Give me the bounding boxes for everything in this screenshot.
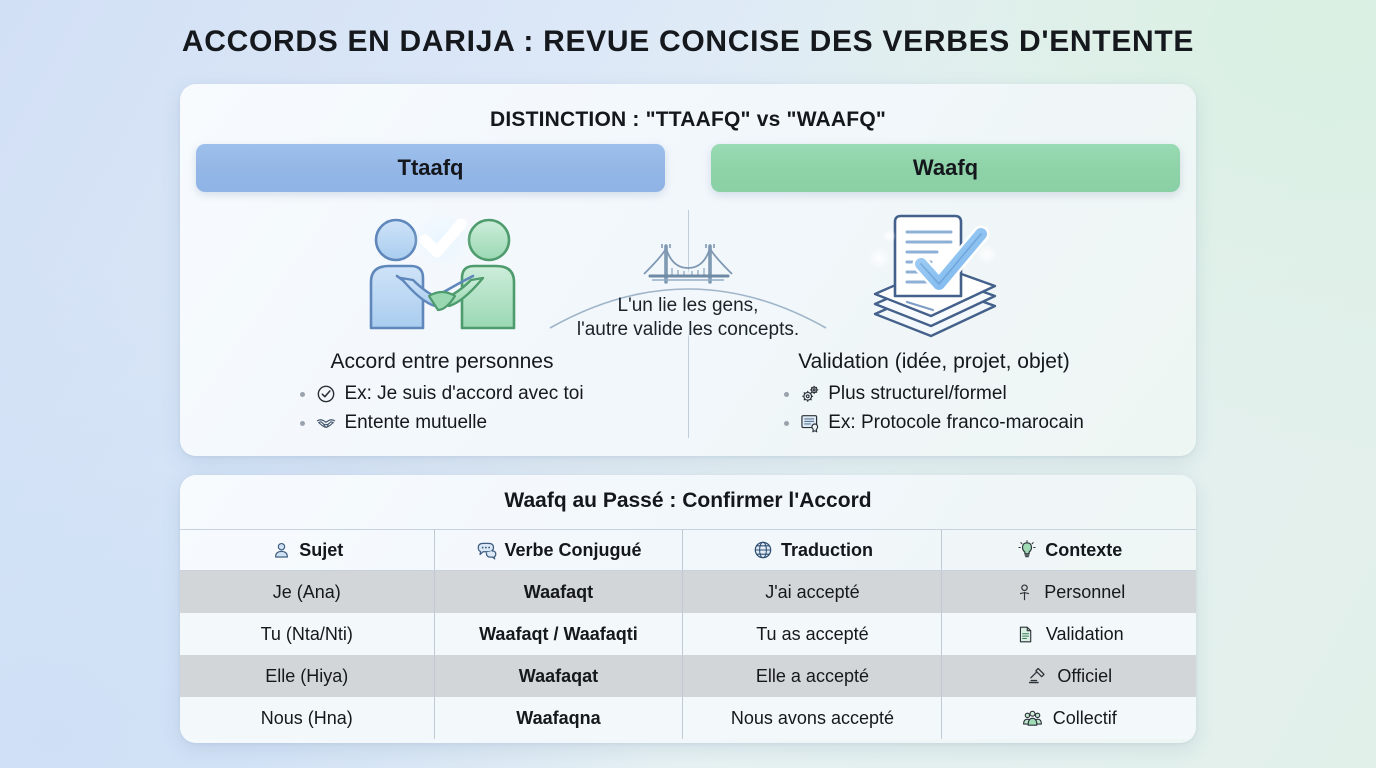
cell-contexte: Validation: [942, 613, 1196, 655]
handshake-icon: [315, 412, 337, 434]
bullet-dot: [300, 421, 305, 426]
cell-sujet: Nous (Hna): [180, 697, 434, 739]
bullet-dot: [300, 392, 305, 397]
cell-contexte-label: Personnel: [1044, 582, 1125, 603]
column-header-label: Contexte: [1045, 540, 1122, 561]
person-outline-icon: [1013, 581, 1035, 603]
lightbulb-icon: [1016, 539, 1038, 561]
cell-sujet: Elle (Hiya): [180, 655, 434, 697]
list-item-label: Plus structurel/formel: [828, 380, 1006, 409]
conjugation-table-card: Waafq au Passé : Confirmer l'Accord: [180, 475, 1196, 743]
column-header-label: Verbe Conjugué: [504, 540, 641, 561]
table-row: Nous (Hna) Waafaqna Nous avons accepté: [180, 697, 1196, 739]
document-check-icon: [859, 210, 1009, 342]
cell-verbe: Waafaqat: [434, 655, 683, 697]
table-head: Sujet: [180, 530, 1196, 571]
group-icon: [1022, 707, 1044, 729]
cell-sujet: Je (Ana): [180, 571, 434, 614]
page-title: ACCORDS EN DARIJA : REVUE CONCISE DES VE…: [180, 0, 1196, 60]
distinction-title: DISTINCTION : "TTAAFQ" vs "WAAFQ": [196, 100, 1180, 144]
comparison-columns: Accord entre personnes Ex: Je suis d'acc…: [196, 206, 1180, 438]
list-item-label: Ex: Je suis d'accord avec toi: [344, 380, 583, 409]
globe-icon: [752, 539, 774, 561]
check-circle-icon: [315, 383, 337, 405]
column-header-traduction[interactable]: Traduction: [683, 530, 942, 571]
column-header-verbe[interactable]: Verbe Conjugué: [434, 530, 683, 571]
bullet-dot: [784, 392, 789, 397]
cell-traduction: Tu as accepté: [683, 613, 942, 655]
handshake-icon: [349, 210, 535, 342]
cell-contexte-label: Collectif: [1053, 708, 1117, 729]
infographic-page: ACCORDS EN DARIJA : REVUE CONCISE DES VE…: [0, 0, 1376, 768]
list-item: Entente mutuelle: [300, 409, 583, 438]
list-item: Ex: Je suis d'accord avec toi: [300, 380, 583, 409]
cell-contexte-label: Validation: [1046, 624, 1124, 645]
list-item: Plus structurel/formel: [784, 380, 1084, 409]
cell-verbe: Waafaqt: [434, 571, 683, 614]
column-header-contexte[interactable]: Contexte: [942, 530, 1196, 571]
cell-contexte: Personnel: [942, 571, 1196, 614]
column-header-label: Traduction: [781, 540, 873, 561]
column-ttaafq: Accord entre personnes Ex: Je suis d'acc…: [196, 206, 688, 438]
distinction-card: DISTINCTION : "TTAAFQ" vs "WAAFQ" Ttaafq…: [180, 84, 1196, 456]
cell-traduction: Elle a accepté: [683, 655, 942, 697]
cell-sujet: Tu (Nta/Nti): [180, 613, 434, 655]
column-header-label: Sujet: [299, 540, 343, 561]
list-item: Ex: Protocole franco-marocain: [784, 409, 1084, 438]
bullet-dot: [784, 421, 789, 426]
cell-contexte-label: Officiel: [1057, 666, 1112, 687]
cell-verbe: Waafaqna: [434, 697, 683, 739]
certificate-icon: [799, 412, 821, 434]
document-icon: [1015, 623, 1037, 645]
pill-row: Ttaafq Waafq: [196, 144, 1180, 192]
table-title: Waafq au Passé : Confirmer l'Accord: [180, 475, 1196, 529]
speech-bubble-icon: [475, 539, 497, 561]
cell-verbe: Waafaqt / Waafaqti: [434, 613, 683, 655]
handshake-illustration: [349, 206, 535, 346]
person-icon: [270, 539, 292, 561]
table-body: Je (Ana) Waafaqt J'ai accepté: [180, 571, 1196, 740]
column-header-sujet[interactable]: Sujet: [180, 530, 434, 571]
right-column-heading: Validation (idée, projet, objet): [798, 350, 1070, 374]
cell-traduction: Nous avons accepté: [683, 697, 942, 739]
gears-icon: [799, 383, 821, 405]
list-item-label: Ex: Protocole franco-marocain: [828, 409, 1084, 438]
table-header-row: Sujet: [180, 530, 1196, 571]
left-column-heading: Accord entre personnes: [331, 350, 554, 374]
table-row: Je (Ana) Waafaqt J'ai accepté: [180, 571, 1196, 614]
pill-ttaafq[interactable]: Ttaafq: [196, 144, 665, 192]
column-waafq: Validation (idée, projet, objet): [688, 206, 1180, 438]
conjugation-table: Sujet: [180, 529, 1196, 739]
document-validation-illustration: [859, 206, 1009, 346]
cell-traduction: J'ai accepté: [683, 571, 942, 614]
gavel-icon: [1026, 665, 1048, 687]
pill-waafq[interactable]: Waafq: [711, 144, 1180, 192]
table-row: Tu (Nta/Nti) Waafaqt / Waafaqti Tu as ac…: [180, 613, 1196, 655]
column-divider: [688, 210, 689, 438]
cell-contexte: Officiel: [942, 655, 1196, 697]
cell-contexte: Collectif: [942, 697, 1196, 739]
list-item-label: Entente mutuelle: [344, 409, 487, 438]
left-bullet-list: Ex: Je suis d'accord avec toi: [300, 380, 583, 438]
right-bullet-list: Plus structurel/formel Ex: Pr: [784, 380, 1084, 438]
table-row: Elle (Hiya) Waafaqat Elle a accepté: [180, 655, 1196, 697]
